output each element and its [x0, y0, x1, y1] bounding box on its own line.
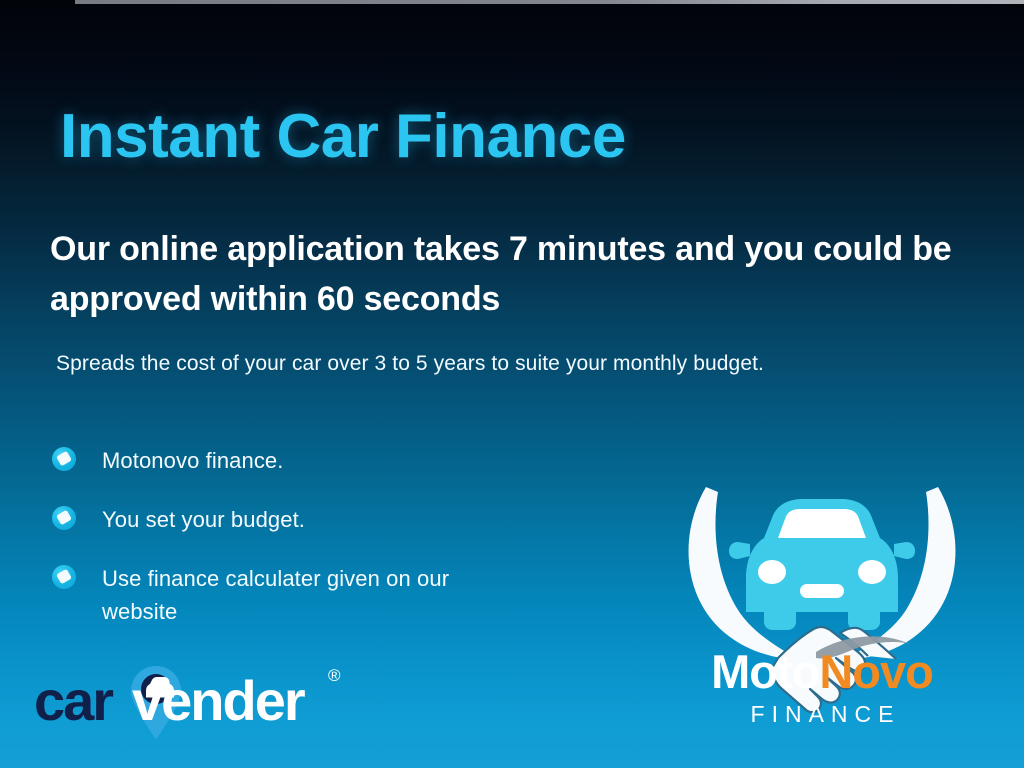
- list-item: Use finance calculater given on our webs…: [52, 562, 482, 628]
- brand-logo-word-car: car: [34, 668, 112, 733]
- diamond-check-bullet-icon: [52, 447, 76, 471]
- diamond-check-bullet-icon: [52, 506, 76, 530]
- partner-logo-word-moto: Moto: [711, 645, 819, 698]
- partner-logo-motonovo: MotoNovo FINANCE: [672, 462, 972, 740]
- list-item-label: Motonovo finance.: [102, 444, 283, 477]
- subheading: Our online application takes 7 minutes a…: [50, 225, 1000, 325]
- slide-canvas: Instant Car Finance Our online applicati…: [0, 0, 1024, 768]
- feature-bullet-list: Motonovo finance. You set your budget. U…: [52, 444, 482, 654]
- page-title: Instant Car Finance: [60, 101, 626, 172]
- trademark-registered-icon: ®: [328, 666, 341, 686]
- list-item-label: You set your budget.: [102, 503, 305, 536]
- top-edge-strip: [75, 0, 1024, 4]
- partner-logo-subtitle: FINANCE: [672, 701, 972, 728]
- diamond-check-bullet-icon: [52, 565, 76, 589]
- list-item-label: Use finance calculater given on our webs…: [102, 562, 482, 628]
- car-emblem-icon: [729, 499, 915, 630]
- list-item: You set your budget.: [52, 503, 482, 536]
- partner-logo-word-novo: Novo: [819, 645, 933, 698]
- lead-paragraph: Spreads the cost of your car over 3 to 5…: [56, 348, 816, 381]
- brand-logo-carvender: car vender ®: [28, 660, 368, 745]
- list-item: Motonovo finance.: [52, 444, 482, 477]
- brand-logo-word-vender: vender: [132, 668, 304, 733]
